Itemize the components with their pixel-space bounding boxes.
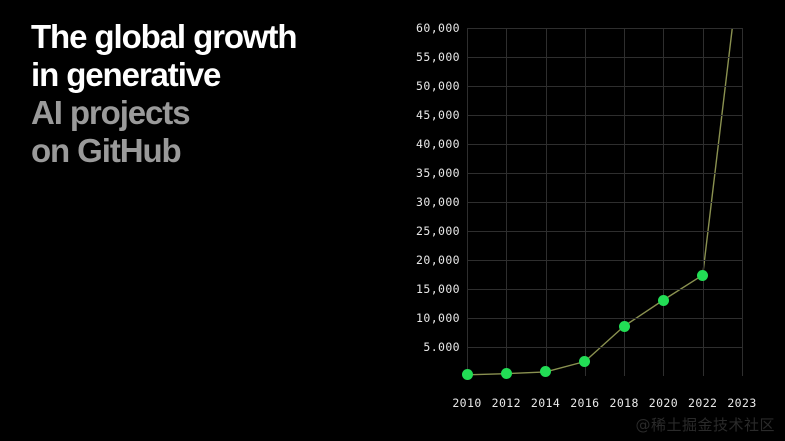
y-axis-tick-label: 45,000: [416, 108, 460, 122]
y-axis-tick-label: 20,000: [416, 253, 460, 267]
data-point-marker[interactable]: [619, 321, 630, 332]
title-line-4: on GitHub: [31, 132, 371, 170]
slide-canvas: The global growth in generative AI proje…: [0, 0, 785, 441]
data-point-marker[interactable]: [501, 368, 512, 379]
gridline-vertical: [506, 28, 507, 376]
gridline-horizontal: [467, 28, 742, 29]
gridline-horizontal: [467, 144, 742, 145]
data-point-marker[interactable]: [658, 295, 669, 306]
gridline-vertical: [546, 28, 547, 376]
gridline-vertical: [467, 28, 468, 376]
y-axis-tick-label: 30,000: [416, 195, 460, 209]
data-point-marker[interactable]: [697, 270, 708, 281]
gridline-horizontal: [467, 173, 742, 174]
title-line-1: The global growth: [31, 18, 371, 56]
gridline-horizontal: [467, 347, 742, 348]
y-axis-tick-label: 25,000: [416, 224, 460, 238]
gridline-vertical: [585, 28, 586, 376]
x-axis-tick-label: 2016: [570, 396, 599, 410]
line-chart: 60,00055,00050,00045,00040,00035,00030,0…: [398, 14, 778, 414]
x-axis-tick-label: 2023: [727, 396, 756, 410]
y-axis-tick-label: 50,000: [416, 79, 460, 93]
y-axis-tick-label: 10,000: [416, 311, 460, 325]
x-axis-tick-label: 2012: [492, 396, 521, 410]
gridline-vertical: [742, 28, 743, 376]
title-line-2: in generative: [31, 56, 371, 94]
gridline-horizontal: [467, 57, 742, 58]
gridline-horizontal: [467, 202, 742, 203]
x-axis-tick-label: 2018: [609, 396, 638, 410]
x-axis-tick-label: 2020: [649, 396, 678, 410]
plot-area: [467, 28, 742, 376]
gridline-vertical: [663, 28, 664, 376]
title-line-3: AI projects: [31, 94, 371, 132]
y-axis-tick-label: 40,000: [416, 137, 460, 151]
gridline-horizontal: [467, 260, 742, 261]
y-axis-tick-label: 55,000: [416, 50, 460, 64]
gridline-horizontal: [467, 86, 742, 87]
x-axis-tick-label: 2010: [452, 396, 481, 410]
y-axis-tick-label: 35,000: [416, 166, 460, 180]
page-title: The global growth in generative AI proje…: [31, 18, 371, 170]
data-point-marker[interactable]: [462, 369, 473, 380]
gridline-horizontal: [467, 289, 742, 290]
y-axis-tick-label: 15,000: [416, 282, 460, 296]
x-axis-tick-labels: 20102012201420162018202020222023: [467, 396, 742, 416]
gridline-horizontal: [467, 231, 742, 232]
x-axis-tick-label: 2022: [688, 396, 717, 410]
y-axis-tick-label: 5.000: [423, 340, 460, 354]
y-axis-tick-label: 60,000: [416, 21, 460, 35]
y-axis-tick-labels: 60,00055,00050,00045,00040,00035,00030,0…: [398, 14, 460, 414]
gridline-horizontal: [467, 318, 742, 319]
gridline-horizontal: [467, 115, 742, 116]
watermark: @稀土掘金技术社区: [635, 414, 775, 435]
x-axis-tick-label: 2014: [531, 396, 560, 410]
gridline-vertical: [703, 28, 704, 376]
